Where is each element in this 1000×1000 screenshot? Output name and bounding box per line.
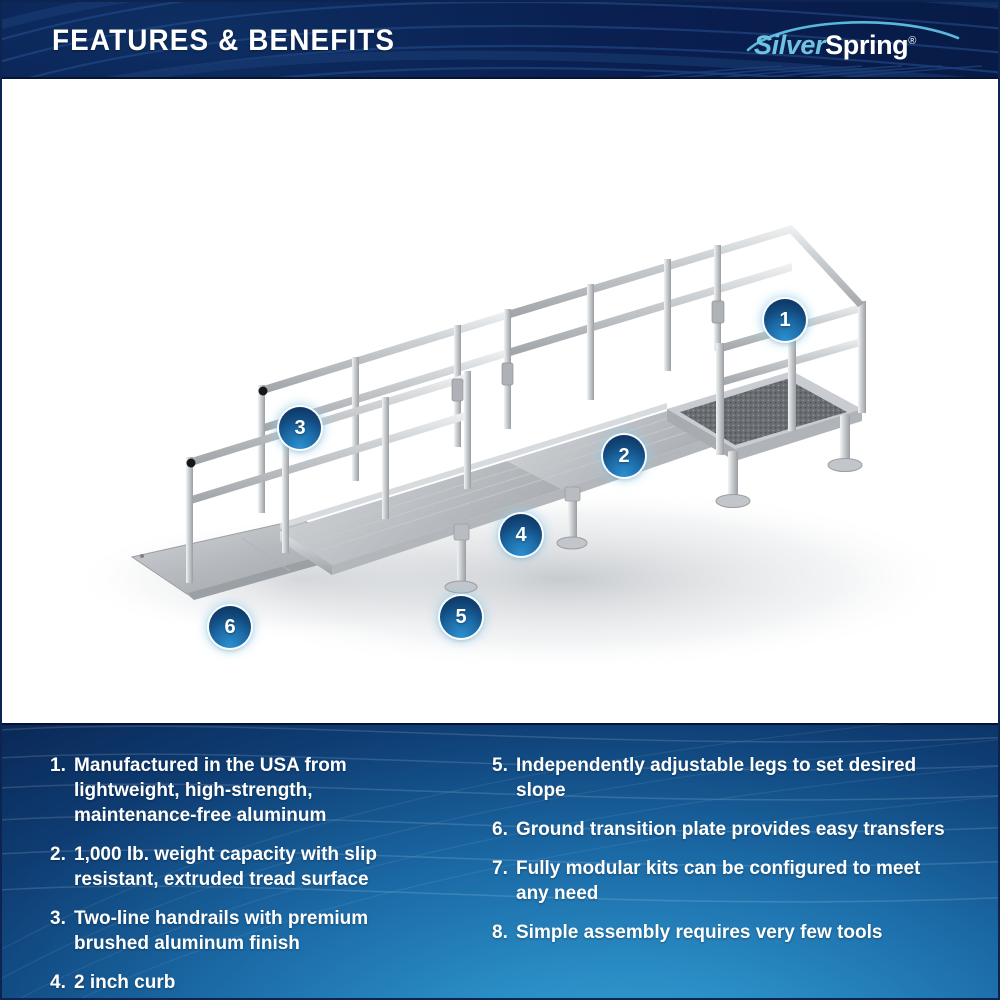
page-title: FEATURES & BENEFITS — [52, 24, 395, 58]
feature-number: 1. — [50, 753, 74, 778]
features-benefits-infographic: FEATURES & BENEFITS SilverSpring® — [0, 0, 1000, 1000]
feature-text: 1,000 lb. weight capacity with slip resi… — [74, 842, 434, 892]
feature-number: 6. — [492, 817, 516, 842]
callout-badge-5[interactable]: 5 — [440, 596, 482, 638]
feature-item: 2. 1,000 lb. weight capacity with slip r… — [50, 842, 482, 892]
features-column-right: 5. Independently adjustable legs to set … — [482, 723, 1000, 1000]
feature-text: Simple assembly requires very few tools — [516, 920, 882, 945]
header-bar: FEATURES & BENEFITS SilverSpring® — [2, 2, 1000, 79]
feature-text: Ground transition plate provides easy tr… — [516, 817, 945, 842]
callout-badge-6[interactable]: 6 — [209, 606, 251, 648]
feature-item: 5. Independently adjustable legs to set … — [492, 753, 1000, 803]
feature-item: 6. Ground transition plate provides easy… — [492, 817, 1000, 842]
feature-number: 7. — [492, 856, 516, 881]
feature-text: Two-line handrails with premium brushed … — [74, 906, 434, 956]
logo-word-silver: Silver — [754, 30, 825, 60]
callout-badge-2[interactable]: 2 — [603, 435, 645, 477]
feature-text: Manufactured in the USA from lightweight… — [74, 753, 434, 828]
logo-wordmark: SilverSpring® — [754, 30, 964, 61]
feature-item: 7. Fully modular kits can be configured … — [492, 856, 1000, 906]
feature-item: 4. 2 inch curb — [50, 970, 482, 995]
brand-logo[interactable]: SilverSpring® — [744, 18, 964, 68]
logo-word-spring: Spring — [825, 30, 908, 60]
features-panel: 1. Manufactured in the USA from lightwei… — [2, 723, 1000, 1000]
callout-badge-1[interactable]: 1 — [764, 299, 806, 341]
feature-number: 5. — [492, 753, 516, 778]
feature-text: Independently adjustable legs to set des… — [516, 753, 946, 803]
logo-registered-icon: ® — [908, 35, 916, 47]
feature-item: 1. Manufactured in the USA from lightwei… — [50, 753, 482, 828]
feature-number: 8. — [492, 920, 516, 945]
feature-number: 2. — [50, 842, 74, 867]
feature-text: Fully modular kits can be configured to … — [516, 856, 946, 906]
ramp-illustration — [2, 79, 1000, 723]
features-columns: 1. Manufactured in the USA from lightwei… — [2, 723, 1000, 1000]
feature-number: 4. — [50, 970, 74, 995]
callout-badge-4[interactable]: 4 — [500, 514, 542, 556]
callout-badge-3[interactable]: 3 — [279, 407, 321, 449]
features-column-left: 1. Manufactured in the USA from lightwei… — [2, 723, 482, 1000]
feature-number: 3. — [50, 906, 74, 931]
feature-text: 2 inch curb — [74, 970, 175, 995]
feature-item: 3. Two-line handrails with premium brush… — [50, 906, 482, 956]
product-image-stage: 1 2 3 4 5 6 — [2, 79, 1000, 723]
feature-item: 8. Simple assembly requires very few too… — [492, 920, 1000, 945]
